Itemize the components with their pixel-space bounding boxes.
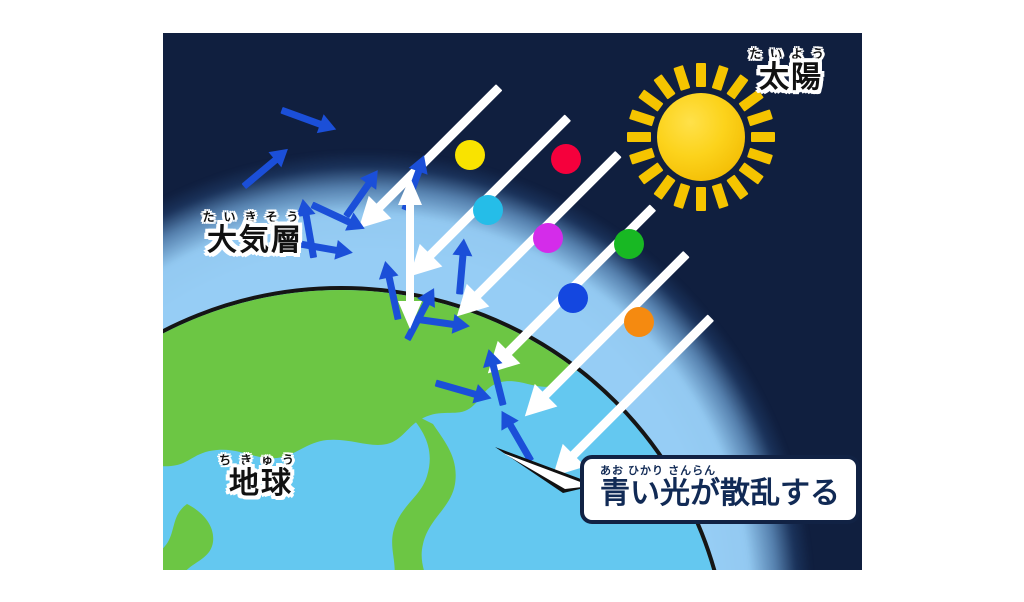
callout-text: 青い光が散乱する — [600, 478, 840, 510]
orange-light-dot — [624, 307, 654, 337]
magenta-light-dot — [533, 223, 563, 253]
sun-ray — [739, 162, 764, 184]
atmosphere-thickness-arrow — [388, 173, 432, 338]
sun-ray — [696, 187, 706, 211]
sun-ray — [653, 175, 675, 200]
sun-ray — [747, 109, 773, 126]
sun-ray — [712, 183, 729, 209]
cyan-light-dot — [473, 195, 503, 225]
label-earth-furigana: ちきゅう — [216, 454, 306, 466]
scatter-arrow — [280, 107, 322, 128]
sun-ray — [629, 109, 655, 126]
yellow-light-dot — [455, 140, 485, 170]
green-light-dot — [614, 229, 644, 259]
sun-ray — [638, 89, 663, 111]
sun-ray — [712, 65, 729, 91]
sun-ray — [673, 65, 690, 91]
scatter-arrow-head — [334, 240, 354, 263]
label-sun-furigana: たいよう — [746, 48, 836, 60]
sun-ray — [638, 162, 663, 184]
scatter-arrow-head — [452, 314, 472, 336]
sun-ray — [751, 132, 775, 142]
label-earth-kanji: 地球 — [216, 469, 306, 499]
sun-core — [657, 93, 745, 181]
scatter-arrow-shaft — [280, 107, 322, 128]
label-sun-kanji: 太陽 — [746, 63, 836, 93]
red-light-dot — [551, 144, 581, 174]
blue-light-dot — [558, 283, 588, 313]
label-sun: たいよう 太陽 — [746, 48, 836, 93]
label-atmosphere-furigana: たいきそう — [195, 211, 315, 223]
sun-ray — [653, 74, 675, 99]
label-atmosphere: たいきそう 大気層 — [195, 211, 315, 256]
label-earth: ちきゅう 地球 — [216, 454, 306, 499]
scatter-arrow-head — [317, 115, 340, 140]
sun-ray — [627, 132, 651, 142]
sun-ray — [629, 148, 655, 165]
sun-ray — [726, 175, 748, 200]
sun-ray — [673, 183, 690, 209]
sun-ray — [747, 148, 773, 165]
callout-furigana: あお ひかり さんらん — [600, 466, 840, 477]
diagram-canvas: たいよう 太陽 たいきそう 大気層 ちきゅう 地球 あお ひかり さんらん 青い… — [163, 33, 862, 570]
scatter-arrow-head — [453, 238, 474, 257]
sun-ray — [696, 63, 706, 87]
illustration-page: たいよう 太陽 たいきそう 大気層 ちきゅう 地球 あお ひかり さんらん 青い… — [0, 0, 1024, 602]
label-atmosphere-kanji: 大気層 — [195, 226, 315, 256]
callout-balloon: あお ひかり さんらん 青い光が散乱する — [580, 455, 860, 524]
